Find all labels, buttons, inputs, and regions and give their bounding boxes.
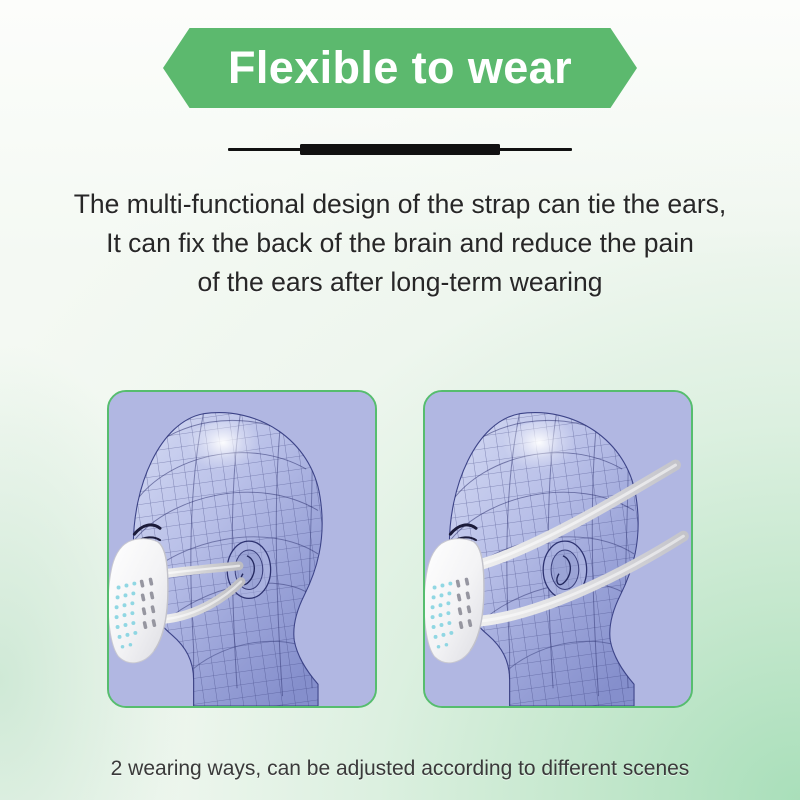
illustration-panels bbox=[107, 390, 693, 710]
ear-loop-wearing-illustration bbox=[109, 392, 375, 706]
banner-title: Flexible to wear bbox=[228, 45, 572, 90]
head-strap-wearing-illustration bbox=[425, 392, 691, 706]
bottom-caption: 2 wearing ways, can be adjusted accordin… bbox=[0, 755, 800, 783]
title-banner: Flexible to wear bbox=[163, 28, 637, 108]
description-block: The multi-functional design of the strap… bbox=[0, 185, 800, 302]
infographic-page: Flexible to wear The multi-functional de… bbox=[0, 0, 800, 800]
section-divider bbox=[228, 143, 572, 157]
panel-head-strap bbox=[423, 390, 693, 708]
divider-thick-bar bbox=[300, 144, 500, 155]
panel-ear-loop bbox=[107, 390, 377, 708]
description-line-3: of the ears after long-term wearing bbox=[0, 263, 800, 302]
description-line-2: It can fix the back of the brain and red… bbox=[0, 224, 800, 263]
description-line-1: The multi-functional design of the strap… bbox=[0, 185, 800, 224]
